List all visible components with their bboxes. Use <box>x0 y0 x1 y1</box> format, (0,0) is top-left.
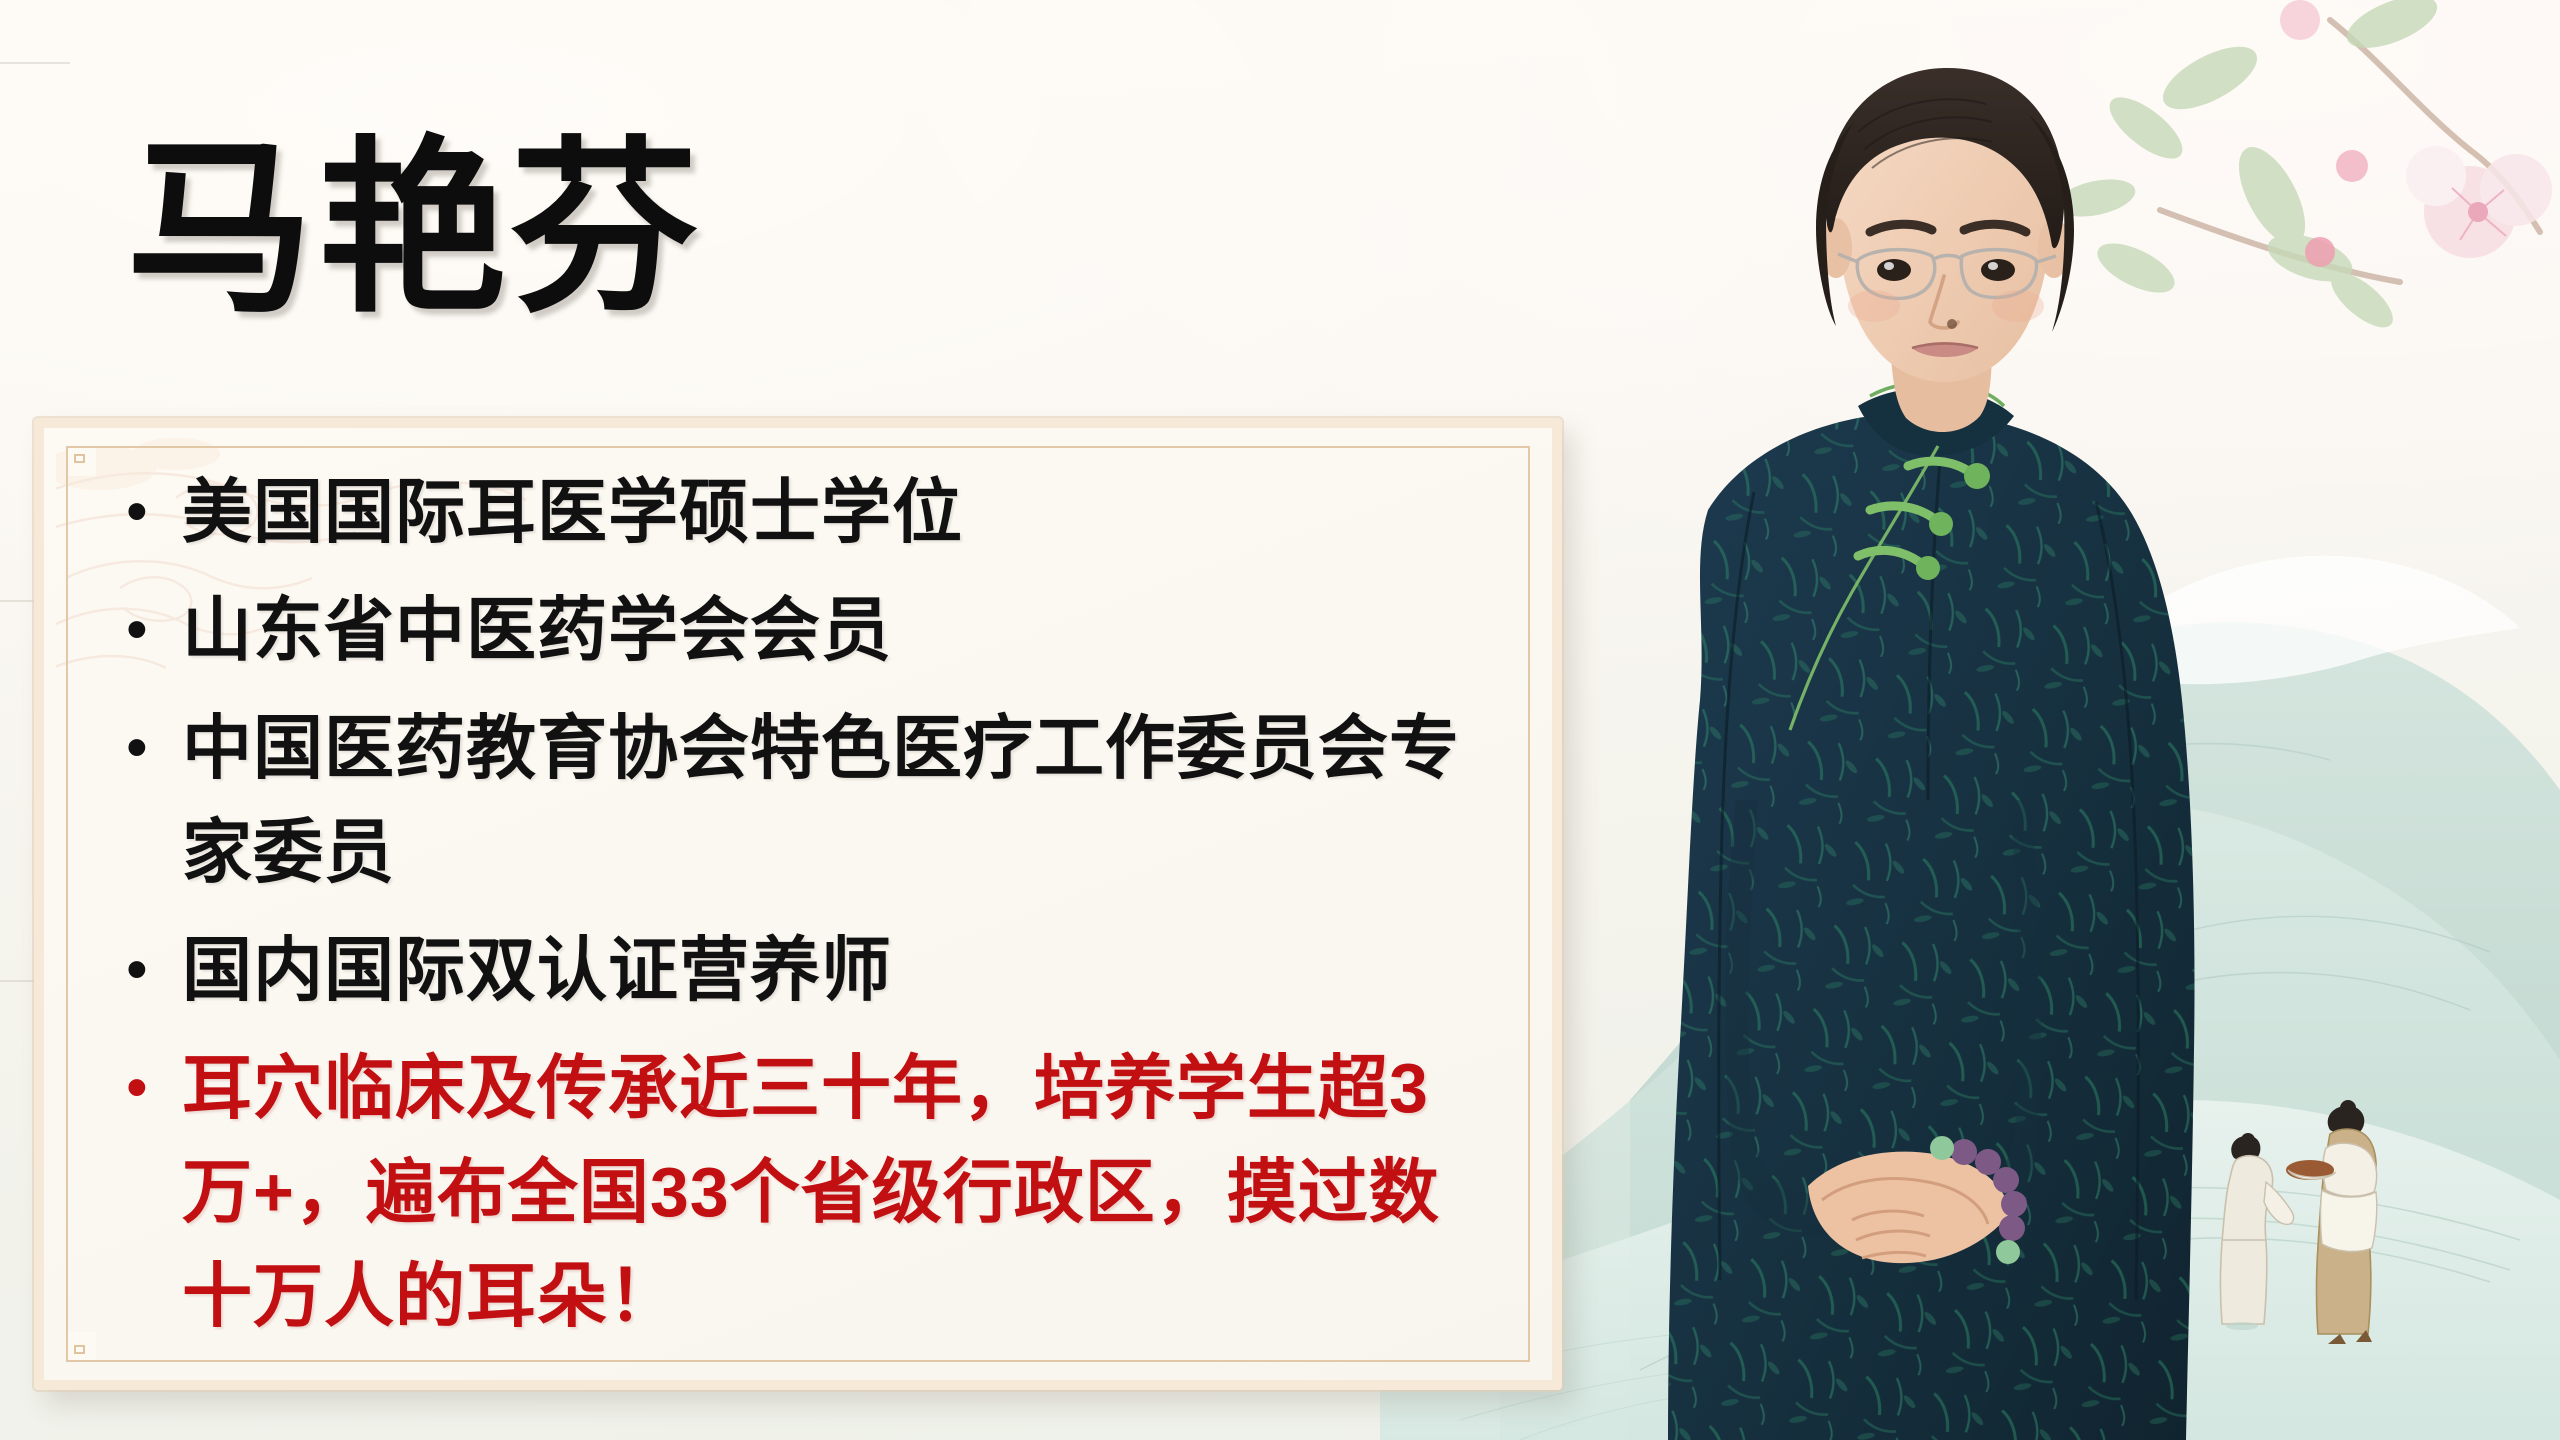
blossom-branch-decoration <box>2000 0 2560 520</box>
list-item: • 国内国际双认证营养师 <box>126 918 1482 1022</box>
bullet-marker-icon: • <box>126 578 182 682</box>
corner-ornament <box>66 446 96 476</box>
list-item: • 山东省中医药学会会员 <box>126 578 1482 682</box>
list-item: • 美国国际耳医学硕士学位 <box>126 460 1482 564</box>
corner-ornament-dot <box>74 1345 85 1354</box>
bullet-marker-icon: • <box>126 1036 182 1140</box>
list-item-label: 美国国际耳医学硕士学位 <box>182 460 1482 564</box>
wall-seam <box>0 62 70 64</box>
corner-ornament-dot <box>74 454 85 463</box>
bullet-marker-icon: • <box>126 918 182 1022</box>
page-title: 马艳芬 <box>126 134 702 326</box>
list-item-label: 国内国际双认证营养师 <box>182 918 1482 1022</box>
bullet-marker-icon: • <box>126 696 182 800</box>
corner-ornament <box>66 1332 96 1362</box>
bullet-marker-icon: • <box>126 460 182 564</box>
two-scholars-decoration <box>2170 1062 2500 1392</box>
list-item-label: 中国医药教育协会特色医疗工作委员会专家委员 <box>182 696 1482 904</box>
credentials-card: • 美国国际耳医学硕士学位 • 山东省中医药学会会员 • 中国医药教育协会特色医… <box>34 418 1562 1390</box>
list-item-label: 山东省中医药学会会员 <box>182 578 1482 682</box>
list-item: • 中国医药教育协会特色医疗工作委员会专家委员 <box>126 696 1482 904</box>
list-item-highlighted: • 耳穴临床及传承近三十年，培养学生超3万+，遍布全国33个省级行政区，摸过数十… <box>126 1036 1482 1348</box>
credentials-list: • 美国国际耳医学硕士学位 • 山东省中医药学会会员 • 中国医药教育协会特色医… <box>126 460 1482 1362</box>
list-item-label: 耳穴临床及传承近三十年，培养学生超3万+，遍布全国33个省级行政区，摸过数十万人… <box>182 1036 1482 1348</box>
slide-root: • 美国国际耳医学硕士学位 • 山东省中医药学会会员 • 中国医药教育协会特色医… <box>0 0 2560 1440</box>
